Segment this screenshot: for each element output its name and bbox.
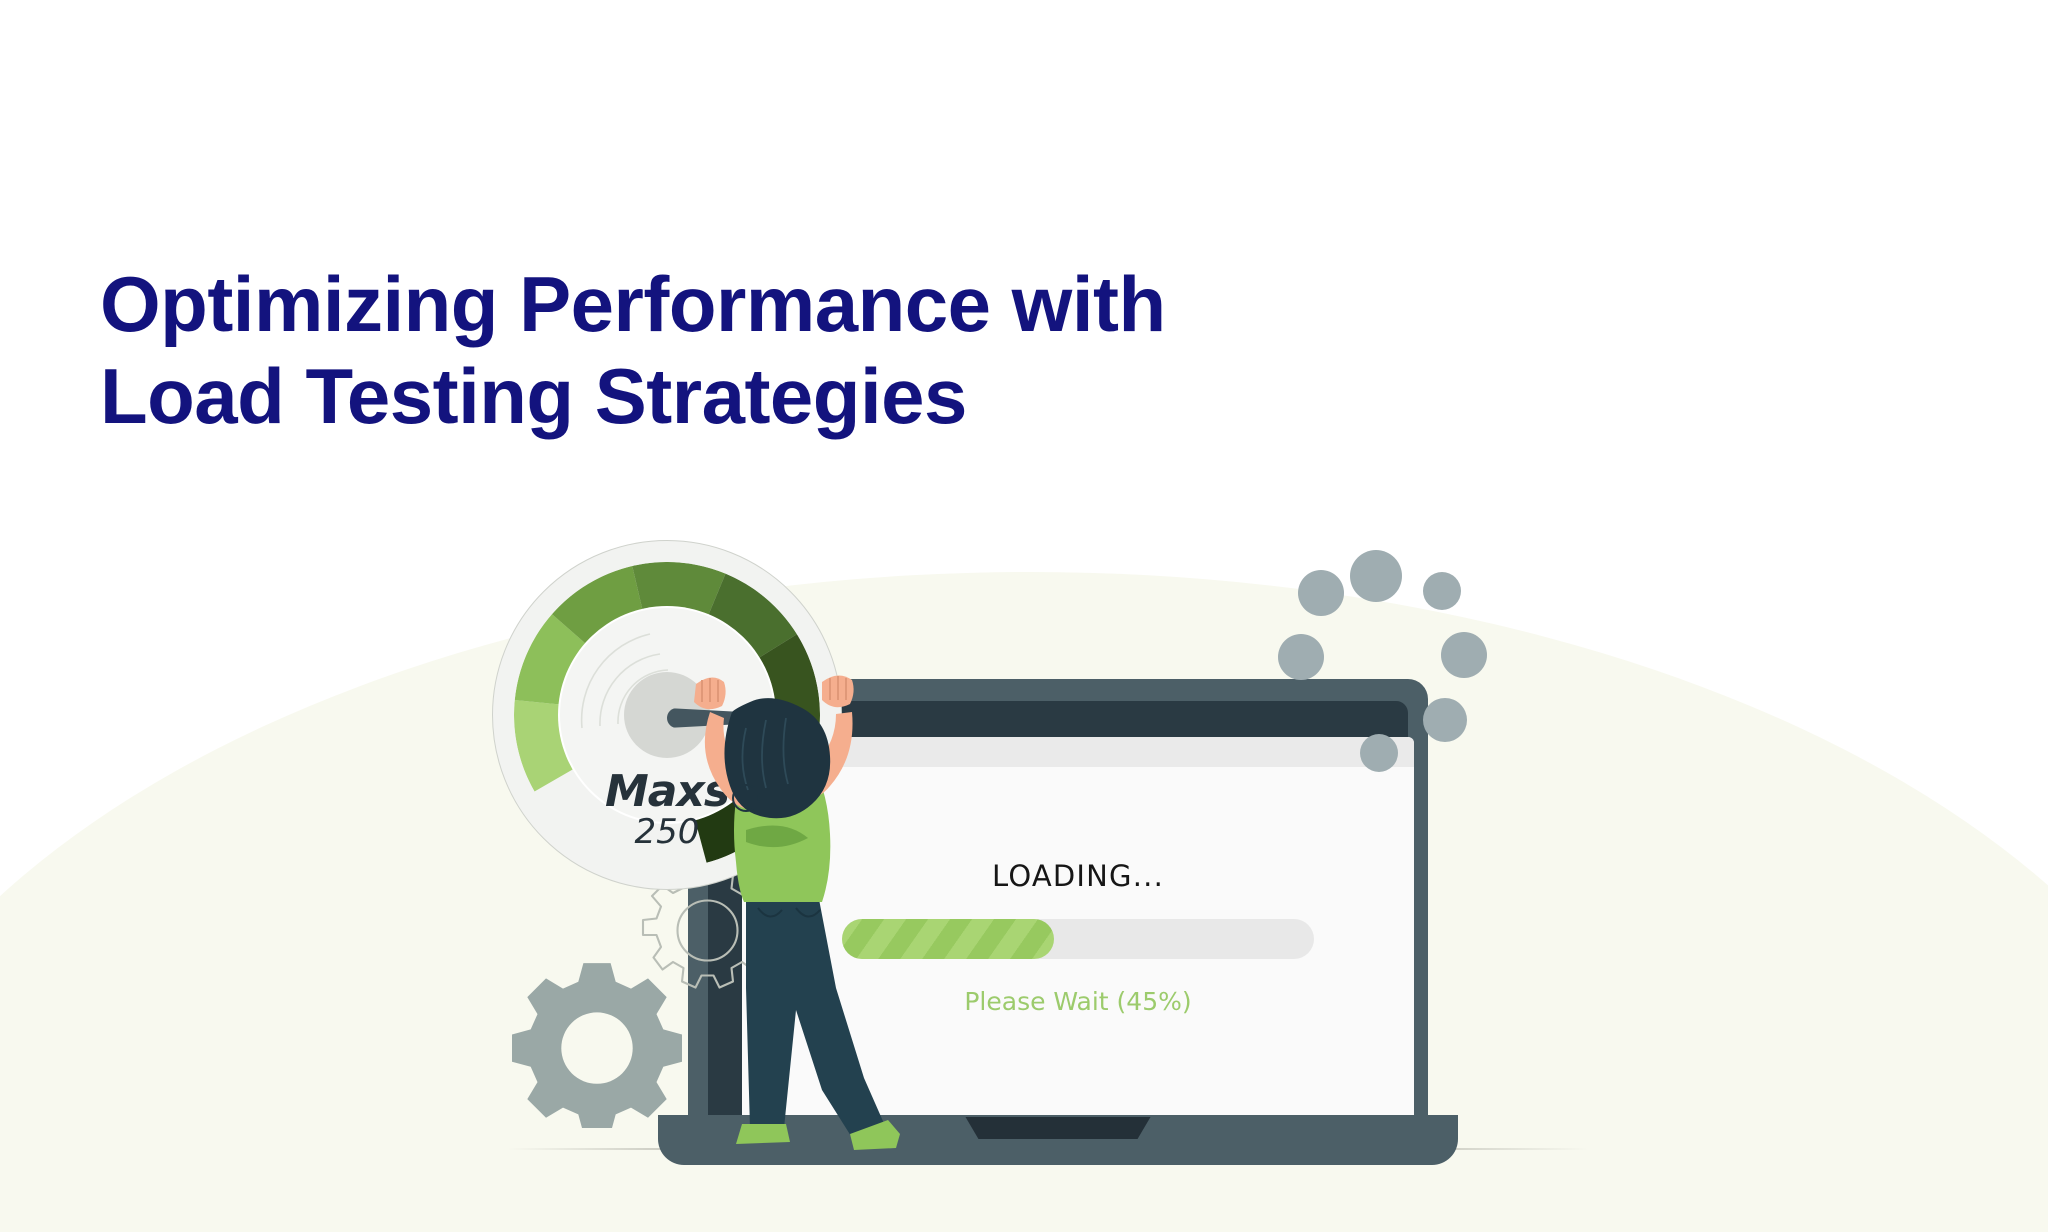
page-title: Optimizing Performance with Load Testing…	[100, 258, 1520, 442]
spinner-dot	[1423, 698, 1467, 742]
page-title-line-2: Load Testing Strategies	[100, 350, 1520, 442]
spinner-dot	[1423, 572, 1461, 610]
slide-canvas: Optimizing Performance with Load Testing…	[0, 0, 2048, 1232]
spinner-dot	[1360, 734, 1398, 772]
laptop-trackpad-notch	[966, 1117, 1151, 1139]
page-title-line-1: Optimizing Performance with	[100, 258, 1520, 350]
spinner-dot	[1298, 570, 1344, 616]
person-hair	[724, 698, 830, 818]
spinner-dot	[1441, 632, 1487, 678]
spinner-dot	[1350, 550, 1402, 602]
loading-spinner-dots	[1278, 550, 1488, 780]
person-illustration	[650, 658, 970, 1158]
spinner-dot	[1278, 634, 1324, 680]
person-pants	[746, 894, 886, 1144]
person-shoe-left	[736, 1124, 790, 1144]
